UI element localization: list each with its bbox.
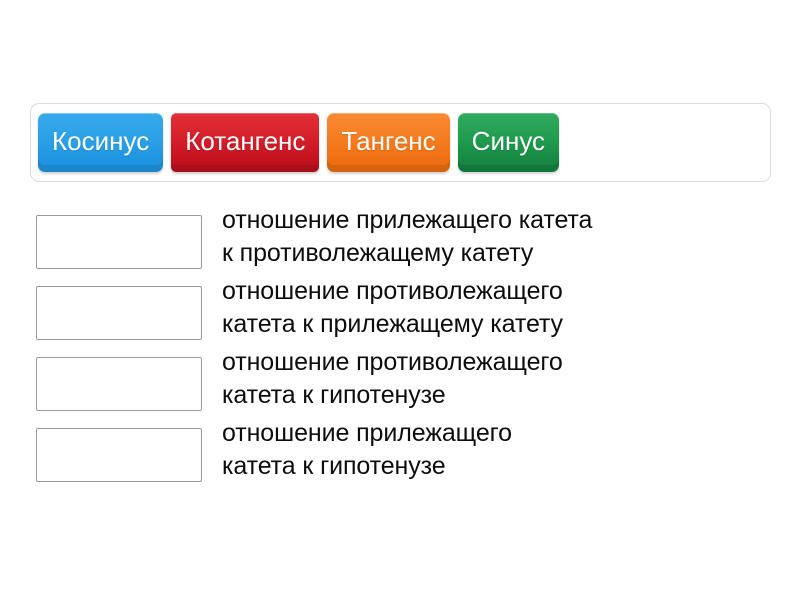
definition-text-2: отношение противолежащего катета к приле… bbox=[222, 274, 776, 341]
match-row: отношение прилежащего катета к гипотенуз… bbox=[36, 416, 776, 487]
match-row: отношение прилежащего катета к противоле… bbox=[36, 203, 776, 274]
tile-label: Косинус bbox=[52, 128, 149, 157]
dropzone-3[interactable] bbox=[36, 357, 202, 411]
matching-rows: отношение прилежащего катета к противоле… bbox=[36, 203, 776, 487]
definition-text-4: отношение прилежащего катета к гипотенуз… bbox=[222, 416, 776, 483]
tile-kosinus[interactable]: Косинус bbox=[38, 113, 163, 172]
tile-label: Тангенс bbox=[341, 128, 435, 157]
dropzone-4[interactable] bbox=[36, 428, 202, 482]
match-row: отношение противолежащего катета к гипот… bbox=[36, 345, 776, 416]
match-row: отношение противолежащего катета к приле… bbox=[36, 274, 776, 345]
tile-tangens[interactable]: Тангенс bbox=[327, 113, 449, 172]
definition-text-1: отношение прилежащего катета к противоле… bbox=[222, 203, 776, 270]
dropzone-2[interactable] bbox=[36, 286, 202, 340]
answer-tile-bank: Косинус Котангенс Тангенс Синус bbox=[30, 103, 771, 182]
definition-text-3: отношение противолежащего катета к гипот… bbox=[222, 345, 776, 412]
tile-label: Котангенс bbox=[185, 128, 305, 157]
tile-label: Синус bbox=[472, 128, 545, 157]
tile-kotangens[interactable]: Котангенс bbox=[171, 113, 319, 172]
tile-sinus[interactable]: Синус bbox=[458, 113, 559, 172]
dropzone-1[interactable] bbox=[36, 215, 202, 269]
